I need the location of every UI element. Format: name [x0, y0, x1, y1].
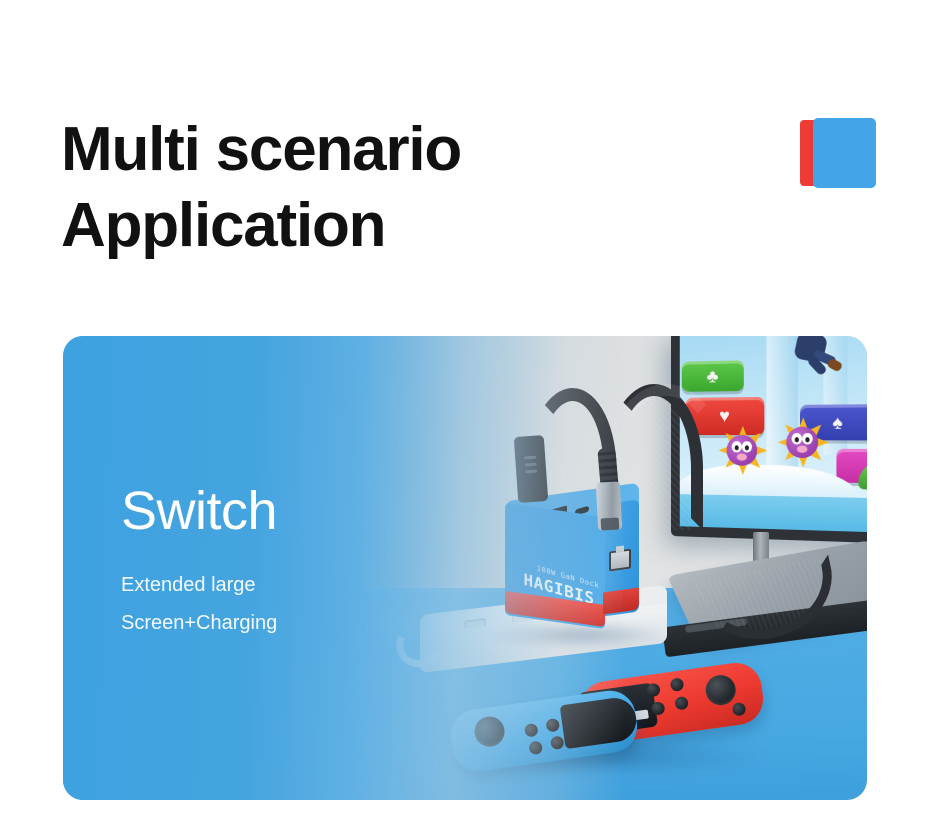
game-block-club: ♣ — [682, 360, 744, 392]
joycon-face-button — [646, 683, 661, 698]
hagibis-logo-icon — [800, 118, 876, 188]
scenario-image-card: ♣ ♥ ♠ ♦ — [63, 336, 867, 800]
scene-subtitle: Extended large Screen+Charging — [121, 566, 421, 642]
joycon-face-button — [674, 696, 689, 711]
joycon-analog-stick — [704, 673, 738, 707]
game-hero-character — [789, 336, 838, 380]
scene-copy: Switch Extended large Screen+Charging — [121, 482, 421, 642]
logo-blue-square — [813, 118, 876, 188]
page-title: Multi scenario Application — [61, 112, 701, 264]
game-water — [680, 494, 867, 533]
game-enemy-spiky — [720, 428, 765, 473]
game-enemy-spiky — [779, 419, 826, 465]
joycon-home-button — [732, 702, 747, 717]
page-header: Multi scenario Application — [0, 0, 930, 310]
scene-heading: Switch — [121, 482, 421, 540]
monitor-screen: ♣ ♥ ♠ ♦ — [680, 336, 867, 533]
joycon-face-button — [651, 701, 666, 716]
joycon-face-button — [670, 677, 685, 692]
